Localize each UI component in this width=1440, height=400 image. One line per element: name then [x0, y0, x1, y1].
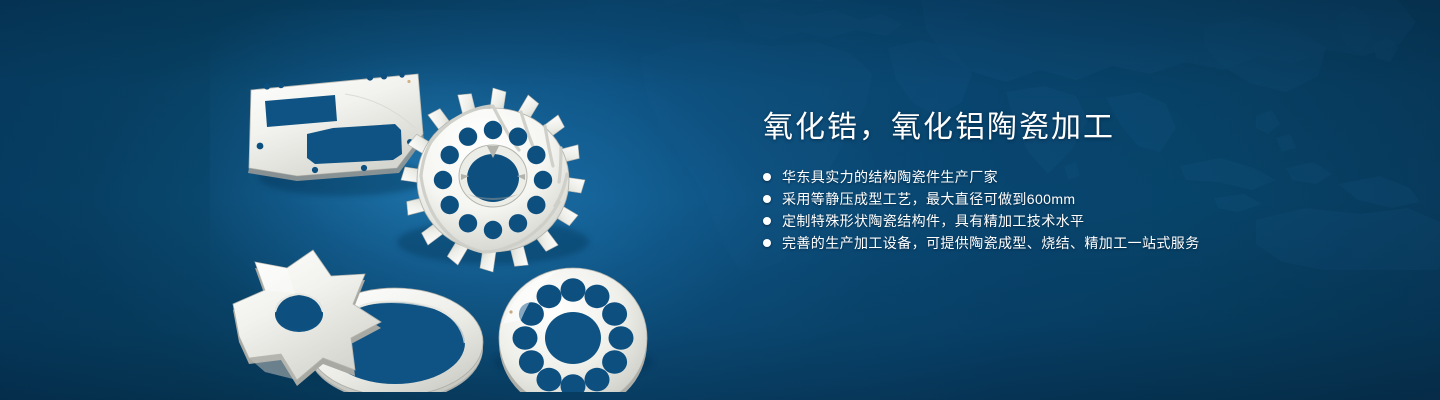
ceramic-impeller-rotor — [401, 88, 585, 272]
ceramic-perforated-disc — [499, 268, 647, 392]
bullet-dot-icon — [763, 217, 771, 225]
list-item: 华东具实力的结构陶瓷件生产厂家 — [763, 166, 1363, 188]
bullet-dot-icon — [763, 173, 771, 181]
list-item-label: 采用等静压成型工艺，最大直径可做到600mm — [782, 188, 1075, 210]
list-item-label: 华东具实力的结构陶瓷件生产厂家 — [782, 166, 998, 188]
list-item: 完善的生产加工设备，可提供陶瓷成型、烧结、精加工一站式服务 — [763, 232, 1363, 254]
list-item: 定制特殊形状陶瓷结构件，具有精加工技术水平 — [763, 210, 1363, 232]
promo-banner: 氧化锆，氧化铝陶瓷加工 华东具实力的结构陶瓷件生产厂家 采用等静压成型工艺，最大… — [0, 0, 1440, 400]
feature-list: 华东具实力的结构陶瓷件生产厂家 采用等静压成型工艺，最大直径可做到600mm 定… — [763, 166, 1363, 254]
page-title: 氧化锆，氧化铝陶瓷加工 — [763, 108, 1363, 148]
list-item-label: 定制特殊形状陶瓷结构件，具有精加工技术水平 — [782, 210, 1084, 232]
bullet-dot-icon — [763, 195, 771, 203]
bullet-dot-icon — [763, 239, 771, 247]
list-item: 采用等静压成型工艺，最大直径可做到600mm — [763, 188, 1363, 210]
ceramic-plate-with-cutouts — [248, 72, 424, 181]
list-item-label: 完善的生产加工设备，可提供陶瓷成型、烧结、精加工一站式服务 — [782, 232, 1200, 254]
banner-copy: 氧化锆，氧化铝陶瓷加工 华东具实力的结构陶瓷件生产厂家 采用等静压成型工艺，最大… — [763, 108, 1363, 254]
ceramic-parts-photo — [225, 42, 695, 392]
